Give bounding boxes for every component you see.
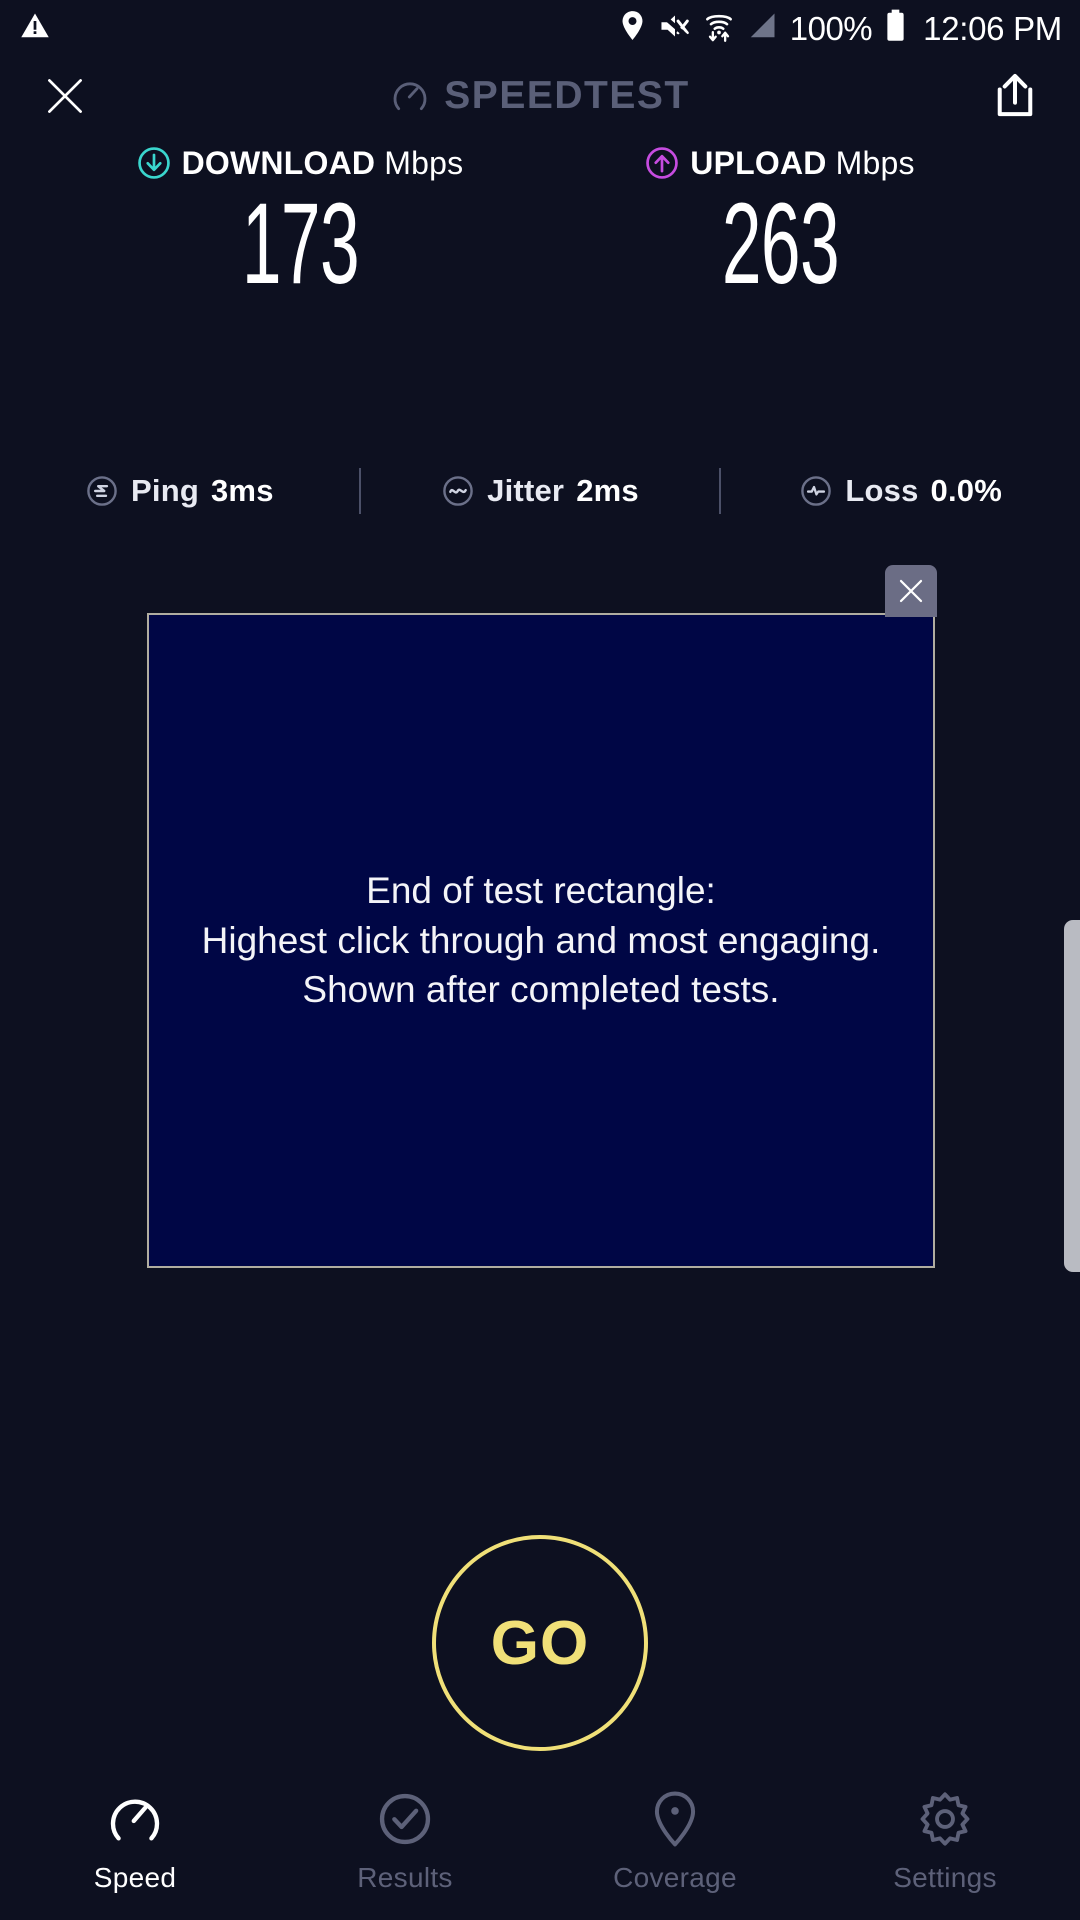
scrollbar-thumb[interactable] xyxy=(1064,920,1080,1272)
vertical-scrollbar[interactable] xyxy=(1064,920,1080,1272)
nav-label-coverage: Coverage xyxy=(613,1862,737,1894)
upload-arrow-circle-icon xyxy=(645,146,679,180)
upload-label-group: UPLOAD Mbps xyxy=(645,142,914,184)
status-bar-right: 100% 12:06 PM xyxy=(619,9,1062,47)
volume-muted-icon xyxy=(659,11,691,46)
share-button[interactable] xyxy=(980,61,1050,131)
metric-ping-value: 3ms xyxy=(211,473,274,509)
ad-text: End of test rectangle: Highest click thr… xyxy=(202,866,881,1016)
download-value: 173 xyxy=(241,186,358,303)
ping-circle-icon xyxy=(85,474,119,508)
check-circle-icon xyxy=(376,1790,434,1848)
share-upload-icon xyxy=(994,73,1036,119)
status-bar-clock: 12:06 PM xyxy=(923,12,1062,45)
ad-close-button[interactable] xyxy=(885,565,937,617)
metric-ping: Ping 3ms xyxy=(0,473,359,509)
download-label-group: DOWNLOAD Mbps xyxy=(137,142,464,184)
download-arrow-circle-icon xyxy=(137,146,171,180)
nav-item-results[interactable]: Results xyxy=(270,1790,540,1894)
bottom-navigation: Speed Results Coverage Settings xyxy=(0,1786,1080,1920)
upload-result: UPLOAD Mbps 263 xyxy=(590,142,970,303)
metric-ping-label: Ping xyxy=(131,473,199,509)
app-title-group: SPEEDTEST xyxy=(0,74,1080,118)
speedtest-app-screen: 100% 12:06 PM SPEEDTEST xyxy=(0,0,1080,1920)
wifi-transfer-icon xyxy=(704,10,734,47)
location-pin-icon xyxy=(646,1790,704,1848)
jitter-wave-circle-icon xyxy=(441,474,475,508)
battery-percent-label: 100% xyxy=(790,12,872,45)
metric-loss-label: Loss xyxy=(845,473,918,509)
speed-results: DOWNLOAD Mbps 173 UPLOAD Mbps 263 xyxy=(0,142,1080,363)
go-button[interactable]: GO xyxy=(432,1535,648,1751)
gear-icon xyxy=(916,1790,974,1848)
status-bar-left xyxy=(20,11,50,46)
nav-label-results: Results xyxy=(357,1862,452,1894)
metric-loss-value: 0.0% xyxy=(931,473,1002,509)
nav-label-settings: Settings xyxy=(893,1862,997,1894)
loss-pulse-circle-icon xyxy=(799,474,833,508)
nav-item-settings[interactable]: Settings xyxy=(810,1790,1080,1894)
page-title: SPEEDTEST xyxy=(444,74,689,118)
network-metrics: Ping 3ms Jitter 2ms Loss 0.0% xyxy=(0,461,1080,521)
go-button-label: GO xyxy=(491,1608,589,1679)
download-result: DOWNLOAD Mbps 173 xyxy=(110,142,490,303)
cellular-signal-icon xyxy=(747,12,777,45)
app-header: SPEEDTEST xyxy=(0,56,1080,136)
nav-label-speed: Speed xyxy=(94,1862,176,1894)
metric-jitter-value: 2ms xyxy=(576,473,639,509)
nav-item-speed[interactable]: Speed xyxy=(0,1790,270,1894)
speed-row: DOWNLOAD Mbps 173 UPLOAD Mbps 263 xyxy=(0,142,1080,303)
metric-loss: Loss 0.0% xyxy=(721,473,1080,509)
status-bar: 100% 12:06 PM xyxy=(0,0,1080,56)
ad-banner[interactable]: End of test rectangle: Highest click thr… xyxy=(147,613,935,1268)
close-x-icon xyxy=(895,575,927,607)
location-pin-icon xyxy=(619,10,646,46)
upload-label: UPLOAD Mbps xyxy=(690,145,914,182)
speedometer-gauge-icon xyxy=(390,76,430,116)
nav-item-coverage[interactable]: Coverage xyxy=(540,1790,810,1894)
battery-full-icon xyxy=(885,9,906,47)
download-label: DOWNLOAD Mbps xyxy=(182,145,464,182)
metric-jitter-label: Jitter xyxy=(487,473,564,509)
speedometer-icon xyxy=(106,1790,164,1848)
warning-triangle-icon xyxy=(20,11,50,46)
upload-value: 263 xyxy=(721,186,838,303)
metric-jitter: Jitter 2ms xyxy=(361,473,720,509)
